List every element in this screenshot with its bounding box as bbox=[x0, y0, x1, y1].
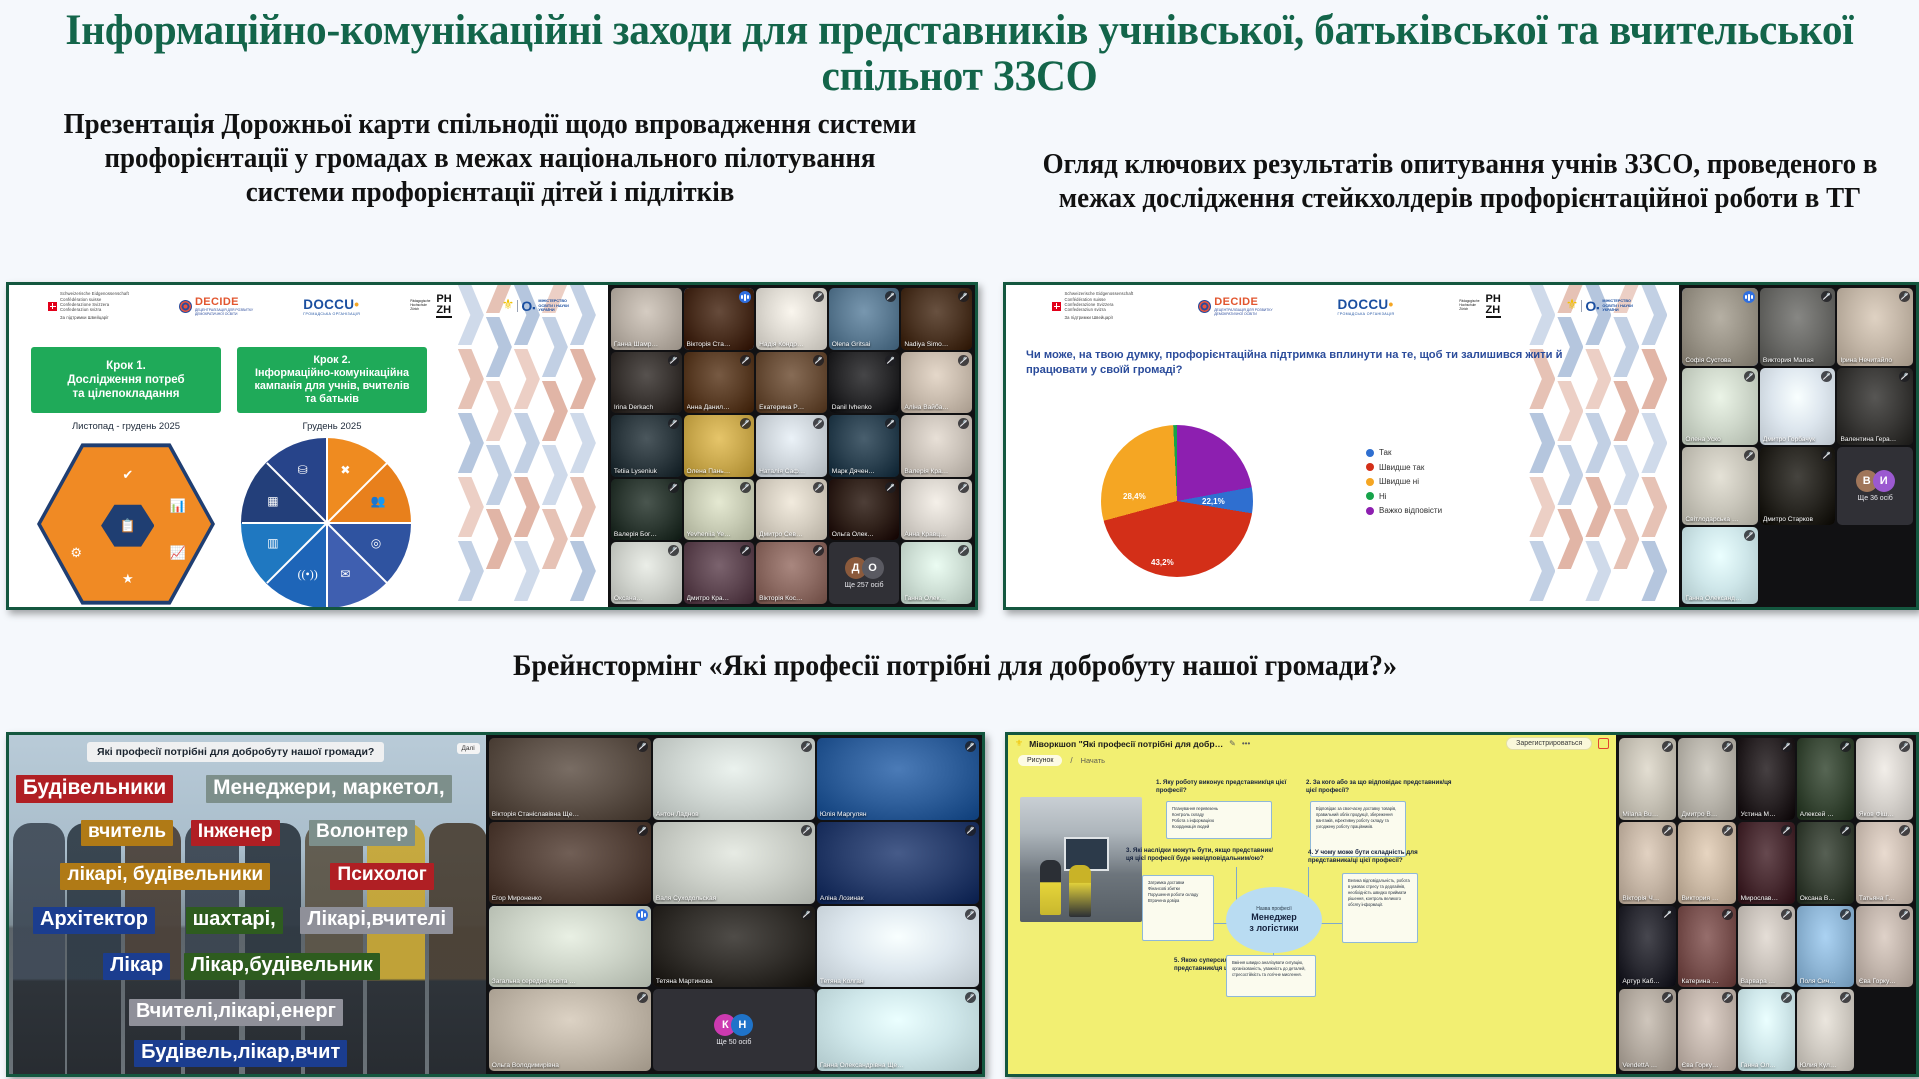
overflow-avatars: ДО bbox=[845, 557, 884, 579]
overflow-count-label: Ще 50 осіб bbox=[716, 1039, 751, 1046]
mon-ukraine-logo: ⚜ O▪ МІНІСТЕРСТВООСВІТИ І НАУКИУКРАЇНИ bbox=[502, 298, 569, 314]
page-title: Інформаційно-комунікаційні заходи для пр… bbox=[38, 8, 1880, 101]
mic-muted-icon: 🎤 bbox=[637, 825, 648, 836]
participant-grid-survey[interactable]: Софія СустоваВиктория Малая🎤Ірина Нечита… bbox=[1679, 285, 1916, 607]
participant-video bbox=[653, 822, 815, 904]
participant-tile[interactable]: Валерія Бог…🎤 bbox=[611, 479, 682, 541]
mic-muted-icon: 🎤 bbox=[1899, 291, 1910, 302]
participant-name: Irina Derkach bbox=[614, 404, 666, 411]
wordcloud-item: Лікар bbox=[103, 953, 170, 980]
mindmap-question-4: 4. У чому може бути складність для предс… bbox=[1308, 849, 1448, 865]
wordcloud-item: Інженер bbox=[191, 820, 280, 846]
legend-color-dot bbox=[1366, 449, 1374, 457]
participant-grid-roadmap[interactable]: Ганна Шамр…Вікторія Ста…Надія Кондр…🎤Ole… bbox=[608, 285, 975, 607]
hex-icon: 📋 bbox=[101, 504, 154, 548]
chevron-shape bbox=[1585, 477, 1611, 537]
legend-label: Важко відповісти bbox=[1379, 506, 1442, 515]
participant-tile[interactable]: Варвара Барсукова🎤 bbox=[1738, 906, 1795, 988]
participant-name: Вікторія Кос… bbox=[759, 595, 811, 602]
participant-tile[interactable]: Дмитро Горбачук🎤 bbox=[1760, 368, 1836, 446]
mic-muted-icon: 🎤 bbox=[1781, 825, 1792, 836]
participant-video bbox=[489, 906, 651, 988]
participant-tile[interactable]: Tetiia Lyseniuk🎤 bbox=[611, 415, 682, 477]
mic-muted-icon: 🎤 bbox=[1781, 741, 1792, 752]
participant-tile[interactable]: Аліна Вайба…🎤 bbox=[901, 352, 972, 414]
chevron-shape bbox=[1529, 541, 1555, 601]
participant-tile[interactable]: Nadiya Simo…🎤 bbox=[901, 288, 972, 350]
participant-tile[interactable]: Ганна Олександрівна Щерб…🎤 bbox=[1738, 989, 1795, 1071]
mic-muted-icon: 🎤 bbox=[740, 355, 751, 366]
hex-icon: 📈 bbox=[151, 531, 204, 575]
chevron-shape bbox=[458, 349, 484, 409]
section-subtitle-right: Огляд ключових результатів опитування уч… bbox=[1042, 148, 1879, 216]
mic-muted-icon: 🎤 bbox=[813, 482, 824, 493]
decide-logo: DECIDE ДЕЦЕНТРАЛІЗАЦІЯ ДЛЯ РОЗВИТКУ ДЕМО… bbox=[1198, 296, 1272, 316]
mic-muted-icon: 🎤 bbox=[1840, 825, 1851, 836]
participant-name: Milana Bugarova bbox=[1622, 811, 1660, 818]
shared-slide-roadmap: Schweizerische Eidgenossenschaft Confédé… bbox=[9, 285, 608, 607]
chevron-decoration bbox=[458, 285, 608, 607]
decide-mark-icon bbox=[179, 300, 192, 313]
shared-slide-miro: ⚜ Міворкшоп "Які професії потрібні для д… bbox=[1008, 735, 1616, 1074]
person-silhouette bbox=[367, 823, 425, 1074]
wordcloud-item: Будівельники bbox=[16, 775, 173, 803]
participant-name: Olena Gritsai bbox=[832, 341, 884, 348]
wheel-spoke bbox=[326, 523, 328, 607]
wheel-spoke bbox=[326, 522, 388, 584]
mic-muted-icon: 🎤 bbox=[965, 741, 976, 752]
participant-tile[interactable]: Оксана…🎤 bbox=[611, 542, 682, 604]
shared-slide-survey: Schweizerische Eidgenossenschaft Confédé… bbox=[1006, 285, 1679, 607]
participant-tile[interactable]: Наталія Саф…🎤 bbox=[756, 415, 827, 477]
participant-name: Дмитро Горбачук bbox=[1763, 436, 1820, 443]
participant-tile[interactable]: Вікторія Кос…🎤 bbox=[756, 542, 827, 604]
participant-name: Устина Мартиненко bbox=[1741, 811, 1779, 818]
participant-tile[interactable]: Вікторія Чистоклєт🎤 bbox=[1619, 822, 1676, 904]
chevron-shape bbox=[486, 317, 512, 377]
participant-tile[interactable]: Дмитро Сев…🎤 bbox=[756, 479, 827, 541]
chevron-shape bbox=[458, 477, 484, 537]
miro-toolbar: ⚜ Міворкшоп "Які професії потрібні для д… bbox=[1008, 735, 1616, 752]
mic-muted-icon: 🎤 bbox=[1744, 530, 1755, 541]
wordcloud-item: вчитель bbox=[81, 820, 173, 846]
chevron-shape bbox=[1529, 413, 1555, 473]
participant-tile[interactable]: Загальна середня освіта … bbox=[489, 906, 651, 988]
participant-name: Аліна Лозинак bbox=[820, 895, 963, 902]
warehouse-worker bbox=[1040, 860, 1062, 915]
mic-muted-icon: 🎤 bbox=[1899, 909, 1910, 920]
step-card-1: Крок 1. Дослідження потреб та цілепоклад… bbox=[31, 347, 221, 413]
logo-row-roadmap: Schweizerische Eidgenossenschaft Confédé… bbox=[9, 291, 608, 321]
chevron-shape bbox=[1557, 381, 1583, 441]
participant-tile[interactable]: Юлія Маргулян🎤 bbox=[817, 738, 979, 820]
mic-muted-icon: 🎤 bbox=[801, 825, 812, 836]
participant-tile[interactable]: Єва Горкуша🎤 bbox=[1856, 906, 1913, 988]
step-2-date: Грудень 2025 bbox=[237, 421, 427, 432]
hex-icon: ★ bbox=[101, 558, 154, 602]
participant-name: Вікторія Станіславівна Ще… bbox=[492, 811, 635, 818]
hex-icon: ✔ bbox=[101, 453, 154, 497]
mic-muted-icon: 🎤 bbox=[1722, 741, 1733, 752]
mic-muted-icon: 🎤 bbox=[1722, 992, 1733, 1003]
chevron-shape bbox=[1557, 445, 1583, 505]
wheel-spoke bbox=[242, 522, 327, 524]
decide-mark-icon bbox=[1198, 300, 1211, 313]
participant-grid-miro[interactable]: Milana Bugarova🎤Дмитро Васильови…🎤Устина… bbox=[1616, 735, 1916, 1074]
ellipsis-icon[interactable]: ••• bbox=[1242, 739, 1250, 748]
participant-name: Дмитро Сев… bbox=[759, 531, 811, 538]
participant-tile[interactable]: Danil Ivhenko🎤 bbox=[829, 352, 900, 414]
section-subtitle-middle: Брейнстормінг «Які професії потрібні для… bbox=[448, 648, 1462, 683]
legend-label: Так bbox=[1379, 448, 1391, 457]
person-silhouette bbox=[305, 823, 363, 1074]
participant-overflow-tile[interactable]: КНЩе 50 осіб bbox=[653, 989, 815, 1071]
shared-slide-wordcloud: Які професії потрібні для добробуту нашо… bbox=[9, 735, 486, 1074]
mic-muted-icon: 🎤 bbox=[1840, 741, 1851, 752]
participant-tile[interactable]: Єва Горкуша🎤 bbox=[1678, 989, 1735, 1071]
participant-tile[interactable]: Валерія Кра…🎤 bbox=[901, 415, 972, 477]
chevron-shape bbox=[514, 541, 540, 601]
participant-tile[interactable]: Надія Кондр…🎤 bbox=[756, 288, 827, 350]
legend-item: Ні bbox=[1366, 492, 1442, 501]
participant-tile[interactable]: Ольга Володимирівна🎤 bbox=[489, 989, 651, 1071]
hex-icon: 📊 bbox=[151, 484, 204, 528]
legend-color-dot bbox=[1366, 463, 1374, 471]
participant-tile[interactable]: Ганна Олек…🎤 bbox=[901, 542, 972, 604]
legend-color-dot bbox=[1366, 478, 1374, 486]
mic-muted-icon: 🎤 bbox=[1781, 909, 1792, 920]
participant-overflow-tile[interactable]: ДОЩе 257 осіб bbox=[829, 542, 900, 604]
participant-name: Юлия Кулага bbox=[1800, 1062, 1838, 1069]
screenshot-wordcloud-meeting: Які професії потрібні для добробуту нашо… bbox=[6, 732, 985, 1077]
person-silhouette bbox=[245, 823, 301, 1074]
participant-tile[interactable]: Анна Кравц…🎤 bbox=[901, 479, 972, 541]
participant-name: Артур Кабацкий bbox=[1622, 978, 1660, 985]
mic-muted-icon: 🎤 bbox=[965, 909, 976, 920]
participant-tile[interactable]: Тетяна Колган🎤 bbox=[817, 906, 979, 988]
participant-tile[interactable]: Дмитро Кра…🎤 bbox=[684, 542, 755, 604]
wordcloud-item: Волонтер bbox=[309, 820, 415, 846]
mic-muted-icon: 🎤 bbox=[1744, 450, 1755, 461]
legend-item: Важко відповісти bbox=[1366, 506, 1442, 515]
legend-item: Швидше ні bbox=[1366, 477, 1442, 486]
wordcloud-item: Менеджери, маркетол, bbox=[206, 775, 451, 803]
chevron-shape bbox=[542, 445, 568, 505]
participant-tile[interactable]: Алексей Мясніков🎤 bbox=[1797, 738, 1854, 820]
chevron-shape bbox=[542, 381, 568, 441]
participant-name: Екатерина Р… bbox=[759, 404, 811, 411]
speaking-indicator-icon bbox=[1743, 291, 1755, 303]
participant-tile[interactable]: VendettA VendettA🎤 bbox=[1619, 989, 1676, 1071]
participant-name: Татьяна Гореликова bbox=[1859, 895, 1897, 902]
participant-video bbox=[653, 738, 815, 820]
logo-row-survey: Schweizerische Eidgenossenschaft Confédé… bbox=[1006, 291, 1679, 321]
participant-name: Загальна середня освіта … bbox=[492, 978, 635, 985]
participant-overflow-tile[interactable]: ВИЩе 36 осіб bbox=[1837, 447, 1913, 525]
swiss-confederation-logo: Schweizerische Eidgenossenschaft Confédé… bbox=[48, 291, 129, 320]
overflow-avatars: ВИ bbox=[1856, 470, 1895, 492]
participant-video bbox=[653, 906, 815, 988]
mic-muted-icon: 🎤 bbox=[965, 825, 976, 836]
person-silhouette bbox=[67, 823, 121, 1074]
participant-tile[interactable]: Виктория Гончар🎤 bbox=[1678, 822, 1735, 904]
participant-tile[interactable]: Анна Данил…🎤 bbox=[684, 352, 755, 414]
chevron-shape bbox=[458, 541, 484, 601]
participant-tile[interactable]: Світлодарська онлайн…🎤 bbox=[1682, 447, 1758, 525]
participant-tile[interactable]: Olena Gritsai🎤 bbox=[829, 288, 900, 350]
participant-name: Анна Кравц… bbox=[904, 531, 956, 538]
overflow-count-label: Ще 257 осіб bbox=[845, 582, 884, 589]
step-1-title: Крок 1. bbox=[67, 359, 184, 373]
miro-tool-chip[interactable]: Рисунок bbox=[1018, 755, 1062, 766]
avatar: И bbox=[1873, 470, 1895, 492]
chevron-shape bbox=[570, 541, 596, 601]
participant-tile[interactable]: Яков Фішман🎤 bbox=[1856, 738, 1913, 820]
participant-tile[interactable]: Поля Сиченко🎤 bbox=[1797, 906, 1854, 988]
chevron-shape bbox=[1557, 509, 1583, 569]
swiss-cross-icon bbox=[1052, 302, 1061, 311]
legend-label: Швидше ні bbox=[1379, 477, 1419, 486]
participant-tile[interactable]: Дмитро Старков🎤 bbox=[1760, 447, 1836, 525]
participant-video bbox=[489, 822, 651, 904]
miro-canvas[interactable]: 1. Яку роботу виконує представник/ця ціє… bbox=[1008, 775, 1616, 1044]
chevron-shape bbox=[514, 477, 540, 537]
chevron-shape bbox=[1529, 477, 1555, 537]
wordcloud-item: Лікар,будівельник bbox=[184, 953, 380, 980]
presentation-slide: Інформаційно-комунікаційні заходи для пр… bbox=[0, 0, 1919, 1079]
phzh-logo: Pädagogische Hochschule Zürich PHZH bbox=[410, 294, 452, 317]
mic-muted-icon: 🎤 bbox=[958, 355, 969, 366]
participant-name: Яков Фішман bbox=[1859, 811, 1897, 818]
doccu-logo: DOCCU• ГРОМАДСЬКА ОРГАНІЗАЦІЯ bbox=[303, 297, 360, 316]
participant-name: Анна Данил… bbox=[687, 404, 739, 411]
participant-tile[interactable]: Ганна Шамр… bbox=[611, 288, 682, 350]
participant-name: Валя Суходольская bbox=[656, 895, 799, 902]
participant-name: Надія Кондр… bbox=[759, 341, 811, 348]
pie-label-shvydshe-tak: 43,2% bbox=[1151, 558, 1174, 567]
participant-tile[interactable]: Ольга Олек…🎤 bbox=[829, 479, 900, 541]
participant-name: Ганна Шамр… bbox=[614, 341, 666, 348]
register-button[interactable]: Зарегистрироваться bbox=[1506, 737, 1592, 750]
chevron-shape bbox=[542, 317, 568, 377]
speaking-indicator-icon bbox=[636, 909, 648, 921]
chevron-shape bbox=[486, 381, 512, 441]
chevron-shape bbox=[1641, 541, 1667, 601]
participant-video bbox=[489, 738, 651, 820]
chevron-shape bbox=[570, 413, 596, 473]
wheel-icon: ▥ bbox=[267, 536, 278, 551]
pie-label-vazhko: 22,1% bbox=[1202, 497, 1225, 506]
swiss-cross-icon bbox=[48, 302, 57, 311]
participant-name: Тетяна Мартинова bbox=[656, 978, 799, 985]
participant-video bbox=[817, 989, 979, 1071]
participant-name: Nadiya Simo… bbox=[904, 341, 956, 348]
mic-muted-icon: 🎤 bbox=[958, 291, 969, 302]
miro-board-title: Міворкшоп "Які професії потрібні для доб… bbox=[1029, 739, 1223, 749]
participant-name: Ганна Олександрівна Щерби… bbox=[1685, 595, 1742, 602]
wheel-icon: 👥 bbox=[371, 494, 386, 509]
participant-name: Danil Ivhenko bbox=[832, 404, 884, 411]
person-silhouette bbox=[429, 823, 486, 1074]
participant-name: Дмитро Старков bbox=[1763, 516, 1820, 523]
chevron-shape bbox=[1613, 317, 1639, 377]
participant-tile[interactable]: Егор Мироненко🎤 bbox=[489, 822, 651, 904]
mindmap-answer-1: Планування перевезень Контроль складу Ро… bbox=[1166, 801, 1272, 839]
participant-tile[interactable]: Катерина Сєбєра🎤 bbox=[1678, 906, 1735, 988]
chevron-shape bbox=[542, 509, 568, 569]
record-icon[interactable] bbox=[1598, 738, 1609, 749]
participant-tile[interactable]: Екатерина Р…🎤 bbox=[756, 352, 827, 414]
step-card-2: Крок 2. Інформаційно-комунікаційна кампа… bbox=[237, 347, 427, 413]
participant-name: Олена Уско bbox=[1685, 436, 1742, 443]
participant-tile[interactable]: Мирослав Нестеєнко🎤 bbox=[1738, 822, 1795, 904]
participant-name: Єва Горкуша bbox=[1681, 1062, 1719, 1069]
participant-name: Ольга Олек… bbox=[832, 531, 884, 538]
participant-tile[interactable]: Юлия Кулага🎤 bbox=[1797, 989, 1854, 1071]
participant-tile[interactable]: Артур Кабацкий🎤 bbox=[1619, 906, 1676, 988]
mic-muted-icon: 🎤 bbox=[668, 545, 679, 556]
mindmap-question-3: 3. Які наслідки можуть бути, якщо предст… bbox=[1126, 847, 1276, 863]
participant-video bbox=[489, 989, 651, 1071]
participant-name: Поля Сиченко bbox=[1800, 978, 1838, 985]
chevron-shape bbox=[1585, 541, 1611, 601]
participant-tile[interactable]: Виктория Малая🎤 bbox=[1760, 288, 1836, 366]
mindmap-answer-3: Затримка доставки Фінансові збитки Поруш… bbox=[1142, 875, 1214, 941]
participant-tile[interactable]: Оксана Вербська🎤 bbox=[1797, 822, 1854, 904]
participant-tile[interactable]: Дмитро Васильови…🎤 bbox=[1678, 738, 1735, 820]
participant-name: Валентина Герасимова bbox=[1840, 436, 1897, 443]
participant-name: Світлодарська онлайн… bbox=[1685, 516, 1742, 523]
mic-muted-icon: 🎤 bbox=[1662, 909, 1673, 920]
mic-muted-icon: 🎤 bbox=[813, 355, 824, 366]
mic-muted-icon: 🎤 bbox=[1744, 371, 1755, 382]
participant-tile[interactable]: Аліна Лозинак🎤 bbox=[817, 822, 979, 904]
participant-video bbox=[817, 906, 979, 988]
participant-name: Yevheniia Ye… bbox=[687, 531, 739, 538]
wordcloud-question: Які професії потрібні для добробуту нашо… bbox=[87, 742, 384, 762]
mic-muted-icon: 🎤 bbox=[813, 291, 824, 302]
survey-pie-chart bbox=[1101, 425, 1253, 577]
participant-name: Оксана Вербська bbox=[1800, 895, 1838, 902]
mic-muted-icon: 🎤 bbox=[1722, 909, 1733, 920]
participant-grid-wordcloud[interactable]: Вікторія Станіславівна Ще…🎤Антон Ладнов🎤… bbox=[486, 735, 982, 1074]
chevron-shape bbox=[570, 349, 596, 409]
step-1-body: Дослідження потреб та цілепокладання bbox=[67, 373, 184, 401]
legend-item: Так bbox=[1366, 448, 1442, 457]
screenshot-roadmap-meeting: Schweizerische Eidgenossenschaft Confédé… bbox=[6, 282, 978, 610]
miro-start-label[interactable]: Начать bbox=[1081, 756, 1105, 765]
participant-name: Tetiia Lyseniuk bbox=[614, 468, 666, 475]
mindmap-center-node: Назва професії Менеджер з логістики bbox=[1226, 887, 1322, 953]
participant-tile[interactable]: Irina Derkach🎤 bbox=[611, 352, 682, 414]
mic-muted-icon: 🎤 bbox=[1781, 992, 1792, 1003]
participant-name: VendettA VendettA bbox=[1622, 1062, 1660, 1069]
person-silhouette bbox=[185, 823, 239, 1074]
tryzub-icon: ⚜ bbox=[1566, 299, 1579, 313]
wheel-icon: ▦ bbox=[267, 494, 278, 509]
miro-subbar: Рисунок / Начать bbox=[1018, 755, 1105, 766]
chevron-shape bbox=[1585, 349, 1611, 409]
overflow-avatars: КН bbox=[714, 1014, 753, 1036]
warehouse-photo bbox=[1020, 797, 1142, 922]
participant-name: Марк Дячен… bbox=[832, 468, 884, 475]
participant-tile[interactable]: Ганна Олександрівна Щерби…🎤 bbox=[1682, 527, 1758, 605]
mindmap-question-2: 2. За кого або за що відповідає представ… bbox=[1306, 779, 1454, 795]
chevron-shape bbox=[1641, 349, 1667, 409]
participant-tile[interactable]: Софія Сустова bbox=[1682, 288, 1758, 366]
chevron-shape bbox=[514, 349, 540, 409]
chevron-shape bbox=[1641, 413, 1667, 473]
wordcloud-people-illustration bbox=[9, 823, 486, 1074]
wordcloud-item: Психолог bbox=[330, 863, 433, 889]
wheel-icon: ◎ bbox=[371, 536, 381, 551]
wordcloud-item: Вчителі,лікарі,енерг bbox=[129, 999, 343, 1026]
participant-name: Юлія Маргулян bbox=[820, 811, 963, 818]
wheel-spoke bbox=[326, 438, 328, 523]
survey-chart-legend: ТакШвидше такШвидше ніНіВажко відповісти bbox=[1366, 448, 1442, 521]
participant-tile[interactable]: Антон Ладнов🎤 bbox=[653, 738, 815, 820]
participant-name: Ганна Олександрівна Ще… bbox=[820, 1062, 963, 1069]
pencil-icon[interactable]: ✎ bbox=[1229, 739, 1236, 748]
avatar: О bbox=[862, 557, 884, 579]
person-silhouette bbox=[13, 823, 65, 1074]
participant-tile[interactable]: Вікторія Станіславівна Ще…🎤 bbox=[489, 738, 651, 820]
mic-muted-icon: 🎤 bbox=[1722, 825, 1733, 836]
participant-name: Катерина Сєбєра bbox=[1681, 978, 1719, 985]
warehouse-worker bbox=[1069, 865, 1091, 918]
wheel-icon: ⛁ bbox=[298, 463, 308, 478]
miro-logo-icon: ⚜ bbox=[1015, 738, 1023, 749]
participant-name: Олена Пань… bbox=[687, 468, 739, 475]
participant-name: Валерія Бог… bbox=[614, 531, 666, 538]
screenshot-survey-meeting: Schweizerische Eidgenossenschaft Confédé… bbox=[1003, 282, 1919, 610]
participant-tile[interactable]: Олена Уско🎤 bbox=[1682, 368, 1758, 446]
participant-tile[interactable]: Вікторія Ста… bbox=[684, 288, 755, 350]
legend-item: Швидше так bbox=[1366, 463, 1442, 472]
mindmap-answer-4: Велика відповідальність, робота в умовах… bbox=[1342, 873, 1418, 943]
participant-name: Егор Мироненко bbox=[492, 895, 635, 902]
overflow-count-label: Ще 36 осіб bbox=[1858, 495, 1893, 502]
participant-name: Вікторія Чистоклєт bbox=[1622, 895, 1660, 902]
step-2-title: Крок 2. bbox=[254, 354, 409, 367]
participant-tile[interactable]: Олена Пань…🎤 bbox=[684, 415, 755, 477]
participant-tile[interactable]: Ганна Олександрівна Ще…🎤 bbox=[817, 989, 979, 1071]
participant-tile[interactable]: Ірина Нечитайло🎤 bbox=[1837, 288, 1913, 366]
participant-tile[interactable]: Тетяна Мартинова🎤 bbox=[653, 906, 815, 988]
chevron-shape bbox=[1613, 509, 1639, 569]
legend-label: Швидше так bbox=[1379, 463, 1424, 472]
participant-tile[interactable]: Марк Дячен…🎤 bbox=[829, 415, 900, 477]
participant-tile[interactable]: Yevheniia Ye…🎤 bbox=[684, 479, 755, 541]
participant-name: Мирослав Нестеєнко bbox=[1741, 895, 1779, 902]
wheel-spoke bbox=[327, 522, 412, 524]
participant-tile[interactable]: Устина Мартиненко🎤 bbox=[1738, 738, 1795, 820]
wheel-diagram: ▦⛁✖👥◎✉((•))▥ bbox=[241, 438, 411, 607]
participant-tile[interactable]: Татьяна Гореликова🎤 bbox=[1856, 822, 1913, 904]
mic-muted-icon: 🎤 bbox=[668, 418, 679, 429]
participant-tile[interactable]: Валя Суходольская🎤 bbox=[653, 822, 815, 904]
participant-name: Ганна Олександрівна Щерб… bbox=[1741, 1062, 1779, 1069]
participant-name: Антон Ладнов bbox=[656, 811, 799, 818]
participant-tile[interactable]: Milana Bugarova🎤 bbox=[1619, 738, 1676, 820]
mic-muted-icon: 🎤 bbox=[637, 741, 648, 752]
swiss-confederation-logo: Schweizerische Eidgenossenschaft Confédé… bbox=[1052, 291, 1133, 320]
wordcloud-next-button[interactable]: Далі bbox=[457, 743, 480, 754]
wheel-icon: ✖ bbox=[340, 463, 350, 478]
participant-name: Софія Сустова bbox=[1685, 357, 1742, 364]
participant-tile[interactable]: Валентина Герасимова🎤 bbox=[1837, 368, 1913, 446]
participant-name: Виктория Гончар bbox=[1681, 895, 1719, 902]
